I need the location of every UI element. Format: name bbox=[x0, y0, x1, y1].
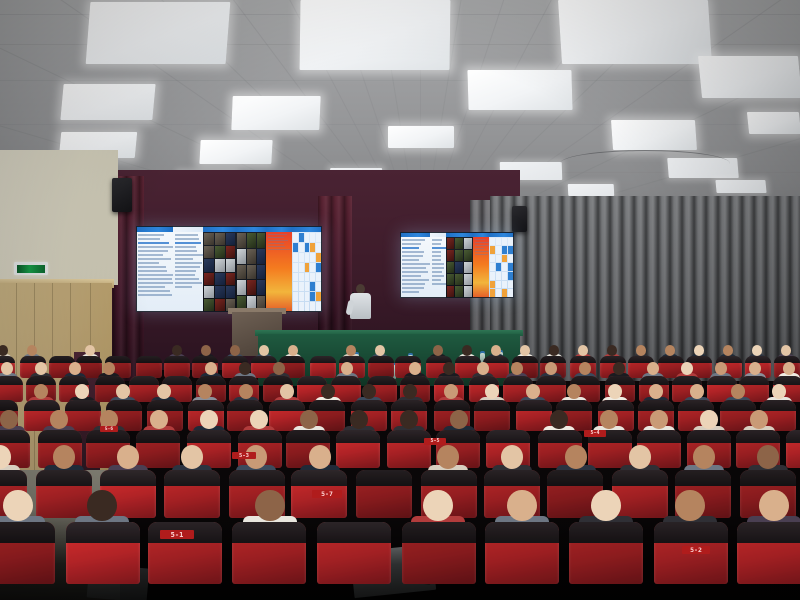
screen-grid-cell bbox=[496, 263, 501, 271]
audience-head bbox=[629, 445, 651, 469]
seat-headrest bbox=[238, 430, 282, 443]
screen-thumbnail bbox=[204, 299, 214, 311]
auditorium-seat[interactable] bbox=[0, 522, 55, 584]
ceiling-light-panel bbox=[611, 120, 697, 150]
seat-headrest bbox=[136, 356, 162, 363]
screen-grid-cell bbox=[490, 263, 495, 271]
audience-head bbox=[346, 345, 356, 356]
screen-thumbnail bbox=[257, 280, 266, 295]
auditorium-seat[interactable] bbox=[485, 522, 559, 584]
screen-grid-cell bbox=[299, 302, 304, 311]
screen-grid-cell bbox=[316, 302, 321, 311]
screen-grid-cell bbox=[316, 263, 321, 272]
seat-headrest bbox=[309, 400, 345, 411]
seat-headrest bbox=[434, 400, 470, 411]
screen-panel-light bbox=[173, 226, 203, 312]
audience-head bbox=[200, 410, 218, 429]
screen-grid-cell bbox=[316, 233, 321, 242]
screen-data-row bbox=[402, 243, 421, 245]
audience-head bbox=[520, 345, 530, 356]
screen-data-row bbox=[268, 249, 290, 250]
auditorium-seat[interactable] bbox=[737, 522, 800, 584]
screen-grid-cell bbox=[299, 292, 304, 301]
screen-thumbnail bbox=[464, 238, 472, 249]
screen-grid-cell bbox=[496, 255, 501, 263]
audience-head bbox=[288, 345, 298, 356]
screen-data-row bbox=[402, 283, 425, 285]
left-led-video-wall[interactable] bbox=[136, 226, 322, 312]
auditorium-seat[interactable] bbox=[66, 522, 140, 584]
audience-head bbox=[400, 410, 418, 429]
screen-thumbnail bbox=[215, 273, 225, 285]
screen-panel-body bbox=[292, 232, 322, 312]
seat-headrest bbox=[310, 356, 336, 363]
exit-sign-glyph bbox=[17, 265, 45, 273]
screen-panel-body bbox=[489, 237, 514, 298]
screen-data-row bbox=[402, 291, 419, 293]
seat-headrest bbox=[106, 400, 142, 411]
seat-headrest bbox=[760, 400, 796, 411]
seat-headrest bbox=[100, 470, 156, 486]
audience-head bbox=[181, 445, 203, 469]
audience-head bbox=[550, 410, 568, 429]
audience-head bbox=[694, 345, 704, 356]
audience-head bbox=[600, 410, 618, 429]
seat-headrest bbox=[556, 400, 592, 411]
screen-grid-cell bbox=[502, 263, 507, 271]
audience-head bbox=[759, 490, 789, 521]
audience-head bbox=[507, 490, 537, 521]
ceiling-light-panel bbox=[300, 0, 451, 70]
audience-head bbox=[27, 345, 37, 356]
audience-head bbox=[172, 345, 182, 356]
screen-data-row bbox=[432, 279, 441, 281]
screen-panel-light bbox=[430, 232, 446, 298]
screen-data-row bbox=[138, 286, 165, 288]
screen-thumbnail bbox=[215, 246, 225, 258]
audience-head bbox=[250, 410, 268, 429]
audience-head bbox=[549, 345, 559, 356]
audience-head bbox=[350, 410, 368, 429]
seat-headrest bbox=[0, 522, 55, 543]
screen-grid-cell bbox=[305, 302, 310, 311]
ceiling-light-panel bbox=[467, 70, 572, 110]
screen-panel-body bbox=[430, 237, 446, 298]
seat-headrest bbox=[38, 430, 82, 443]
screen-data-row bbox=[402, 239, 425, 241]
screen-data-row bbox=[138, 290, 170, 292]
screen-grid-cell bbox=[502, 272, 507, 280]
ceiling-light-panel bbox=[698, 56, 800, 98]
screen-grid-cell bbox=[310, 302, 315, 311]
screen-panel-body bbox=[236, 232, 266, 312]
seat-headrest bbox=[612, 470, 668, 486]
wall-speaker-right bbox=[512, 206, 527, 232]
ceiling-light-panel bbox=[199, 140, 272, 164]
screen-panel-heat bbox=[473, 232, 489, 298]
auditorium-seat[interactable] bbox=[310, 356, 336, 378]
auditorium-seat[interactable] bbox=[387, 430, 431, 468]
screen-grid-cell bbox=[316, 282, 321, 291]
screen-grid-cell bbox=[508, 281, 513, 289]
screen-data-row bbox=[175, 234, 198, 236]
audience-head bbox=[757, 445, 779, 469]
audience-head bbox=[375, 345, 385, 356]
screen-grid-cell bbox=[508, 246, 513, 254]
screen-grid-cell bbox=[508, 263, 513, 271]
screen-thumbnail bbox=[215, 259, 225, 271]
seat-headrest bbox=[229, 470, 285, 486]
ceiling-light-panel bbox=[558, 0, 712, 64]
screen-data-row bbox=[175, 270, 196, 272]
screen-grid-cell bbox=[310, 263, 315, 272]
screen-data-row bbox=[138, 282, 173, 284]
seat-headrest bbox=[24, 400, 60, 411]
screen-grid-cell bbox=[293, 273, 298, 282]
screen-grid-cell bbox=[316, 243, 321, 252]
screen-data-row bbox=[402, 259, 419, 261]
screen-thumbnail bbox=[204, 259, 214, 271]
audience-head bbox=[423, 490, 453, 521]
audience-head bbox=[0, 345, 8, 356]
screen-grid-cell bbox=[299, 233, 304, 242]
screen-panel-body bbox=[173, 232, 203, 312]
seat-headrest bbox=[654, 522, 728, 543]
screen-grid-cell bbox=[310, 282, 315, 291]
audience-head bbox=[117, 445, 139, 469]
auditorium-seat[interactable] bbox=[164, 356, 190, 378]
screen-grid-cell bbox=[496, 238, 501, 246]
audience-head bbox=[650, 410, 668, 429]
seat-headrest bbox=[187, 430, 231, 443]
seat-headrest bbox=[164, 470, 220, 486]
screen-grid-cell bbox=[490, 238, 495, 246]
screen-thumbnail bbox=[204, 233, 214, 245]
screen-data-row bbox=[175, 238, 199, 240]
audience-head bbox=[450, 410, 468, 429]
screen-data-row bbox=[268, 243, 284, 244]
screen-thumbnail bbox=[447, 274, 455, 285]
screen-thumbnail bbox=[447, 286, 455, 297]
seat-headrest bbox=[164, 356, 190, 363]
audience-head bbox=[723, 345, 733, 356]
screen-data-row bbox=[138, 274, 173, 276]
ceiling-light-panel bbox=[86, 2, 231, 64]
seat-headrest bbox=[147, 400, 183, 411]
exit-sign bbox=[14, 262, 48, 275]
screen-grid-cell bbox=[310, 253, 315, 262]
screen-data-row bbox=[175, 282, 202, 284]
screen-grid-cell bbox=[502, 246, 507, 254]
screen-panel-light bbox=[400, 232, 430, 298]
screen-grid-cell bbox=[293, 253, 298, 262]
screen-thumbnail bbox=[447, 250, 455, 261]
screen-panel-blue bbox=[292, 226, 322, 312]
audience-head bbox=[53, 445, 75, 469]
screen-thumbnail bbox=[226, 259, 236, 271]
screen-data-row bbox=[138, 278, 172, 280]
screen-panel-body bbox=[400, 237, 430, 298]
seat-headrest bbox=[687, 430, 731, 443]
screen-panel-body bbox=[203, 232, 236, 312]
audience-head bbox=[781, 345, 791, 356]
screen-panel-blue bbox=[489, 232, 514, 298]
screen-data-row bbox=[175, 274, 195, 276]
screen-thumbnail bbox=[455, 250, 463, 261]
screen-data-row bbox=[138, 294, 172, 296]
screen-grid-cell bbox=[305, 233, 310, 242]
audience-head bbox=[87, 490, 117, 521]
seat-headrest bbox=[0, 400, 18, 411]
screen-data-row bbox=[138, 266, 166, 268]
seat-headrest bbox=[356, 470, 412, 486]
audience-head bbox=[259, 345, 269, 356]
screen-thumbnail bbox=[226, 273, 236, 285]
screen-thumbnail bbox=[215, 233, 225, 245]
auditorium-seat[interactable] bbox=[569, 522, 643, 584]
screen-thumbnail bbox=[247, 280, 256, 295]
screen-data-row bbox=[432, 259, 442, 261]
screen-grid-cell bbox=[305, 282, 310, 291]
screen-panel-dark bbox=[236, 226, 266, 312]
screen-thumbnail bbox=[247, 233, 256, 248]
screen-grid-cell bbox=[490, 281, 495, 289]
screen-thumbnail bbox=[447, 238, 455, 249]
auditorium-seat[interactable] bbox=[368, 356, 394, 378]
screen-grid-cell bbox=[310, 292, 315, 301]
auditorium-seat[interactable] bbox=[356, 470, 412, 518]
screen-grid-cell bbox=[310, 243, 315, 252]
screen-thumbnail bbox=[464, 286, 472, 297]
screen-grid-cell bbox=[496, 281, 501, 289]
auditorium-seat[interactable] bbox=[136, 356, 162, 378]
seat-headrest bbox=[227, 400, 263, 411]
ceiling-light-panel bbox=[568, 184, 615, 196]
seat-headrest bbox=[538, 430, 582, 443]
screen-data-row bbox=[432, 275, 444, 277]
seat-number-plate: 5-2 bbox=[682, 546, 710, 554]
screen-thumbnail bbox=[215, 299, 225, 311]
screen-data-row bbox=[432, 255, 441, 257]
screen-grid-cell bbox=[299, 263, 304, 272]
audience-head bbox=[50, 410, 68, 429]
seat-number-plate: 5-7 bbox=[312, 490, 342, 498]
seat-headrest bbox=[188, 400, 224, 411]
presenter bbox=[348, 284, 374, 330]
screen-grid-cell bbox=[490, 255, 495, 263]
screen-grid-cell bbox=[293, 233, 298, 242]
screen-grid-cell bbox=[299, 282, 304, 291]
screen-data-row bbox=[175, 258, 192, 260]
screen-data-row bbox=[432, 239, 442, 241]
screen-data-row bbox=[175, 278, 199, 280]
screen-thumbnail bbox=[447, 262, 455, 273]
audience-head bbox=[462, 345, 472, 356]
screen-thumbnail bbox=[464, 250, 472, 261]
seat-headrest bbox=[484, 470, 540, 486]
screen-data-row bbox=[175, 242, 201, 244]
seat-headrest bbox=[368, 356, 394, 363]
screen-grid-cell bbox=[293, 282, 298, 291]
screen-data-row bbox=[175, 286, 192, 288]
screen-grid-cell bbox=[299, 253, 304, 262]
audience-head bbox=[491, 345, 501, 356]
screen-grid-cell bbox=[316, 273, 321, 282]
audience-head bbox=[0, 410, 18, 429]
screen-grid-cell bbox=[293, 302, 298, 311]
screen-data-row bbox=[138, 254, 163, 256]
screen-thumbnail bbox=[226, 286, 236, 298]
screen-thumbnail bbox=[257, 265, 266, 280]
screen-data-row bbox=[475, 242, 489, 243]
screen-data-row bbox=[138, 246, 173, 248]
audience-head bbox=[675, 490, 705, 521]
audience-head bbox=[700, 410, 718, 429]
seat-headrest bbox=[317, 522, 391, 543]
screen-grid-cell bbox=[508, 272, 513, 280]
screen-data-row bbox=[138, 258, 171, 260]
screen-grid-cell bbox=[496, 246, 501, 254]
seat-headrest bbox=[474, 400, 510, 411]
screen-thumbnail bbox=[257, 233, 266, 248]
screen-data-row bbox=[175, 246, 196, 248]
seat-headrest bbox=[638, 400, 674, 411]
seat-headrest bbox=[269, 400, 305, 411]
audience-head bbox=[300, 410, 318, 429]
audience-head bbox=[3, 490, 33, 521]
seat-headrest bbox=[291, 470, 347, 486]
audience-head bbox=[433, 345, 443, 356]
screen-grid-cell bbox=[305, 243, 310, 252]
seat-headrest bbox=[598, 400, 634, 411]
audience-head bbox=[578, 345, 588, 356]
seat-headrest bbox=[516, 400, 552, 411]
screen-grid-cell bbox=[502, 289, 507, 297]
seat-number-plate: 5-3 bbox=[232, 452, 256, 459]
audience-head bbox=[591, 490, 621, 521]
seat-number-plate: 5-5 bbox=[424, 438, 446, 445]
screen-panel-body bbox=[473, 237, 489, 298]
seat-headrest bbox=[569, 522, 643, 543]
screen-data-row bbox=[402, 255, 423, 257]
screen-data-row bbox=[402, 263, 430, 265]
seat-number-plate: 5-1 bbox=[160, 530, 194, 539]
seat-headrest bbox=[678, 400, 714, 411]
screen-grid-cell bbox=[508, 289, 513, 297]
screen-data-row bbox=[402, 271, 428, 273]
screen-thumbnail bbox=[226, 246, 236, 258]
screen-data-row bbox=[432, 271, 442, 273]
screen-data-row bbox=[268, 237, 283, 238]
screen-grid-cell bbox=[490, 246, 495, 254]
screen-data-row bbox=[432, 251, 441, 253]
ceiling-light-panel bbox=[60, 84, 155, 120]
auditorium-seat[interactable] bbox=[164, 470, 220, 518]
seat-headrest bbox=[675, 470, 731, 486]
seat-headrest bbox=[402, 522, 476, 543]
screen-grid-cell bbox=[293, 292, 298, 301]
screen-data-row bbox=[475, 251, 489, 252]
screen-data-row bbox=[475, 245, 489, 246]
screen-grid-cell bbox=[316, 292, 321, 301]
screen-data-row bbox=[402, 279, 429, 281]
screen-data-row bbox=[138, 234, 164, 236]
screen-grid-cell bbox=[305, 253, 310, 262]
screen-panel-body bbox=[266, 232, 292, 312]
ceiling-grid-line bbox=[0, 80, 800, 81]
screen-grid-cell bbox=[490, 272, 495, 280]
seat-headrest bbox=[740, 470, 796, 486]
screen-data-row bbox=[432, 283, 446, 285]
auditorium-seat[interactable] bbox=[402, 522, 476, 584]
screen-grid-cell bbox=[299, 273, 304, 282]
screen-data-row bbox=[402, 247, 419, 249]
ceiling-light-panel bbox=[388, 126, 454, 148]
screen-grid-cell bbox=[496, 272, 501, 280]
screen-data-row bbox=[268, 246, 285, 247]
screen-data-row bbox=[475, 239, 485, 240]
screen-data-row bbox=[138, 242, 169, 244]
right-led-video-wall[interactable] bbox=[400, 232, 514, 298]
auditorium-seat[interactable] bbox=[0, 376, 23, 402]
auditorium-seat[interactable] bbox=[232, 522, 306, 584]
audience-head bbox=[636, 345, 646, 356]
screen-panel-light bbox=[136, 226, 173, 312]
screen-grid-cell bbox=[305, 273, 310, 282]
screen-grid-cell bbox=[502, 281, 507, 289]
screen-grid-cell bbox=[293, 243, 298, 252]
screen-panel-dark bbox=[446, 232, 473, 298]
screen-data-row bbox=[138, 250, 168, 252]
screen-data-row bbox=[402, 275, 421, 277]
screen-thumbnail bbox=[237, 265, 246, 280]
wall-speaker-left bbox=[112, 178, 132, 212]
ceiling-conduit bbox=[560, 150, 730, 177]
screen-thumbnail bbox=[204, 246, 214, 258]
screen-grid-cell bbox=[316, 253, 321, 262]
audience-head bbox=[255, 490, 285, 521]
screen-thumbnail bbox=[464, 274, 472, 285]
ceiling-light-panel bbox=[747, 112, 800, 134]
screen-data-row bbox=[432, 267, 444, 269]
auditorium-seat[interactable] bbox=[474, 400, 510, 431]
screen-thumbnail bbox=[455, 286, 463, 297]
screen-grid-cell bbox=[305, 292, 310, 301]
seat-headrest bbox=[0, 376, 23, 385]
conference-hall-photo: 5-15-75-35-55-45-25-6 bbox=[0, 0, 800, 600]
screen-grid-cell bbox=[490, 289, 495, 297]
auditorium-seat[interactable] bbox=[317, 522, 391, 584]
audience-head bbox=[230, 345, 240, 356]
screen-data-row bbox=[138, 270, 167, 272]
seat-headrest bbox=[421, 470, 477, 486]
audience-head bbox=[201, 345, 211, 356]
seat-number-plate: 5-6 bbox=[100, 426, 118, 432]
seat-headrest bbox=[391, 400, 427, 411]
maroon-curtain-center bbox=[318, 196, 352, 336]
audience-head bbox=[750, 410, 768, 429]
screen-data-row bbox=[175, 262, 202, 264]
seat-number-plate: 5-4 bbox=[584, 430, 606, 437]
screen-grid-cell bbox=[299, 243, 304, 252]
screen-thumbnail bbox=[237, 233, 246, 248]
screen-thumbnail bbox=[204, 286, 214, 298]
screen-grid-cell bbox=[293, 263, 298, 272]
audience-head bbox=[309, 445, 331, 469]
seat-headrest bbox=[36, 470, 92, 486]
screen-thumbnail bbox=[257, 249, 266, 264]
seat-headrest bbox=[66, 522, 140, 543]
